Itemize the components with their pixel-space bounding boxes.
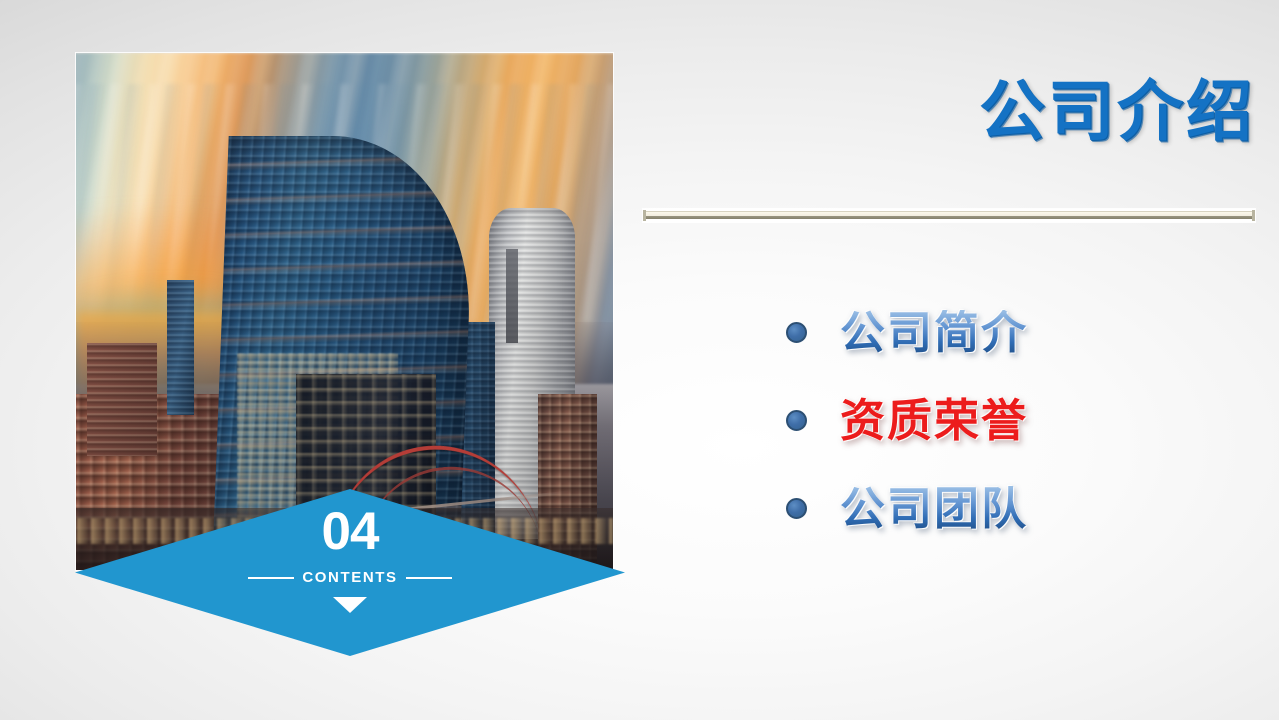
section-number-content: 04 CONTENTS	[75, 489, 625, 656]
down-triangle-icon	[333, 597, 367, 613]
list-item-label: 公司团队	[840, 486, 1028, 531]
circle-bullet-icon	[786, 322, 807, 343]
list-item[interactable]: 公司团队	[786, 464, 1256, 552]
title-divider-cap-right	[1252, 210, 1255, 221]
section-number: 04	[322, 505, 379, 558]
contents-label-row: CONTENTS	[248, 569, 451, 586]
photo-left-secondary-block	[87, 343, 157, 457]
photo-silver-tower-notch	[506, 249, 519, 342]
contents-label: CONTENTS	[302, 569, 397, 586]
list-item[interactable]: 公司简介	[786, 288, 1256, 376]
title-divider-cap-left	[643, 210, 646, 221]
list-item-label: 资质荣誉	[840, 398, 1028, 443]
contents-rule-right	[406, 577, 452, 579]
list-item-label: 公司简介	[840, 310, 1028, 355]
circle-bullet-icon	[786, 410, 807, 431]
title-divider	[643, 209, 1255, 222]
circle-bullet-icon	[786, 498, 807, 519]
presentation-slide: 04 CONTENTS 公司介绍 公司简介 资质荣誉 公司团队	[0, 0, 1279, 720]
list-item[interactable]: 资质荣誉	[786, 376, 1256, 464]
page-title: 公司介绍	[643, 76, 1255, 147]
photo-left-spire	[167, 280, 194, 414]
contents-rule-left	[248, 577, 294, 579]
agenda-list: 公司简介 资质荣誉 公司团队	[786, 288, 1256, 552]
page-title-wrap: 公司介绍	[643, 76, 1255, 147]
title-divider-shadow	[645, 216, 1253, 219]
